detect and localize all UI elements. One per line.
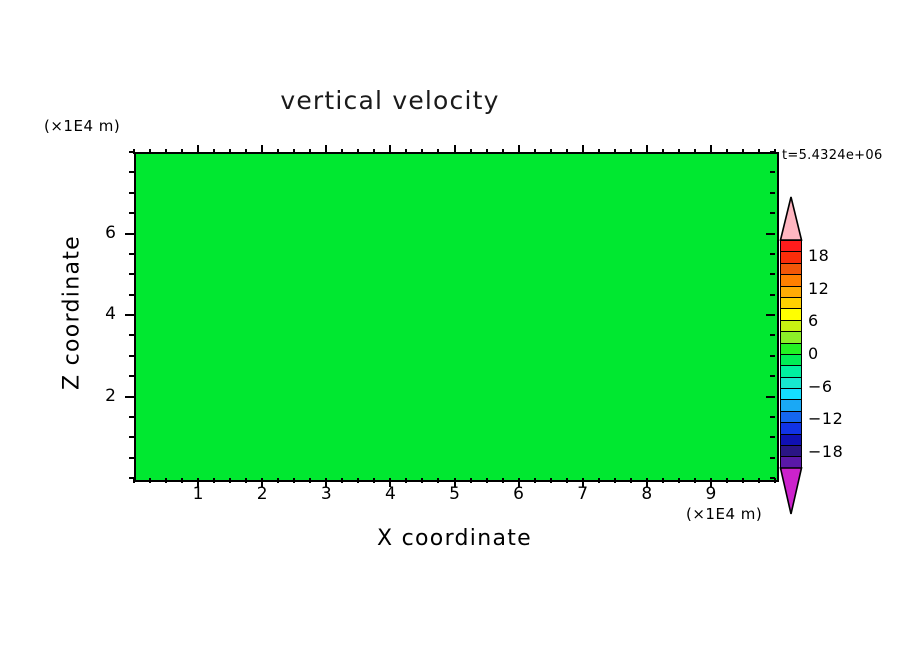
axis-tick bbox=[325, 145, 327, 154]
axis-tick bbox=[770, 273, 775, 275]
axis-tick bbox=[534, 149, 536, 154]
axis-tick bbox=[454, 145, 456, 154]
axis-tick bbox=[710, 145, 712, 154]
axis-tick bbox=[566, 149, 568, 154]
axis-tick bbox=[357, 478, 359, 483]
axis-tick bbox=[470, 149, 472, 154]
axis-tick bbox=[129, 273, 134, 275]
axis-tick bbox=[421, 149, 423, 154]
colorbar-band bbox=[781, 321, 801, 332]
x-tick-label: 8 bbox=[627, 484, 667, 504]
axis-tick bbox=[309, 149, 311, 154]
y-axis-title: Z coordinate bbox=[60, 213, 85, 413]
axis-tick bbox=[770, 457, 775, 459]
axis-tick bbox=[261, 145, 263, 154]
axis-tick bbox=[770, 192, 775, 194]
axis-tick bbox=[486, 149, 488, 154]
axis-tick bbox=[129, 334, 134, 336]
axis-tick bbox=[534, 478, 536, 483]
axis-tick bbox=[277, 149, 279, 154]
axis-tick bbox=[766, 233, 775, 235]
x-tick-label: 5 bbox=[435, 484, 475, 504]
axis-tick bbox=[129, 212, 134, 214]
axis-tick bbox=[630, 149, 632, 154]
axis-tick bbox=[766, 396, 775, 398]
axis-tick bbox=[165, 478, 167, 483]
axis-tick bbox=[437, 478, 439, 483]
axis-tick bbox=[229, 149, 231, 154]
axis-tick bbox=[129, 457, 134, 459]
y-axis-unit-label: (×1E4 m) bbox=[44, 117, 120, 135]
colorbar-tick-label: −12 bbox=[808, 409, 843, 428]
axis-tick bbox=[129, 294, 134, 296]
x-tick-label: 9 bbox=[691, 484, 731, 504]
figure-canvas: vertical velocity (×1E4 m) t=5.4324e+06 … bbox=[0, 0, 904, 654]
axis-tick bbox=[742, 149, 744, 154]
x-tick-label: 2 bbox=[242, 484, 282, 504]
axis-tick bbox=[373, 478, 375, 483]
axis-tick bbox=[129, 416, 134, 418]
axis-tick bbox=[125, 314, 134, 316]
colorbar bbox=[780, 240, 802, 468]
axis-tick bbox=[742, 478, 744, 483]
axis-tick bbox=[277, 478, 279, 483]
axis-tick bbox=[770, 436, 775, 438]
colorbar-tick-label: −6 bbox=[808, 377, 833, 396]
axis-tick bbox=[129, 477, 134, 479]
axis-tick bbox=[662, 478, 664, 483]
colorbar-under-arrow bbox=[779, 467, 803, 515]
axis-tick bbox=[129, 192, 134, 194]
axis-tick bbox=[197, 145, 199, 154]
axis-tick bbox=[129, 253, 134, 255]
axis-tick bbox=[766, 314, 775, 316]
axis-tick bbox=[770, 171, 775, 173]
colorbar-band bbox=[781, 241, 801, 252]
axis-tick bbox=[129, 355, 134, 357]
axis-tick bbox=[678, 149, 680, 154]
axis-tick bbox=[678, 478, 680, 483]
axis-tick bbox=[502, 149, 504, 154]
y-tick-label: 4 bbox=[86, 304, 116, 324]
colorbar-band bbox=[781, 332, 801, 343]
axis-tick bbox=[341, 149, 343, 154]
axis-tick bbox=[129, 436, 134, 438]
axis-tick bbox=[770, 416, 775, 418]
colorbar-tick-label: 12 bbox=[808, 279, 829, 298]
axis-tick bbox=[486, 478, 488, 483]
axis-tick bbox=[630, 478, 632, 483]
colorbar-band bbox=[781, 252, 801, 263]
axis-tick bbox=[758, 478, 760, 483]
axis-tick bbox=[293, 478, 295, 483]
x-tick-label: 6 bbox=[499, 484, 539, 504]
colorbar-band bbox=[781, 355, 801, 366]
colorbar-band bbox=[781, 412, 801, 423]
axis-tick bbox=[129, 171, 134, 173]
axis-tick bbox=[770, 375, 775, 377]
colorbar-tick-label: 0 bbox=[808, 344, 819, 363]
axis-tick bbox=[770, 212, 775, 214]
axis-tick bbox=[125, 233, 134, 235]
axis-tick bbox=[181, 149, 183, 154]
axis-tick bbox=[213, 478, 215, 483]
axis-tick bbox=[770, 334, 775, 336]
axis-tick bbox=[550, 478, 552, 483]
axis-tick bbox=[550, 149, 552, 154]
axis-tick bbox=[758, 149, 760, 154]
axis-tick bbox=[149, 149, 151, 154]
colorbar-band bbox=[781, 400, 801, 411]
axis-tick bbox=[770, 477, 775, 479]
axis-tick bbox=[566, 478, 568, 483]
axis-tick bbox=[389, 145, 391, 154]
axis-tick bbox=[181, 478, 183, 483]
axis-tick bbox=[770, 355, 775, 357]
axis-tick bbox=[470, 478, 472, 483]
axis-tick bbox=[405, 478, 407, 483]
x-axis-title: X coordinate bbox=[134, 526, 775, 551]
axis-tick bbox=[598, 478, 600, 483]
colorbar-band bbox=[781, 446, 801, 457]
axis-tick bbox=[165, 149, 167, 154]
axis-tick bbox=[229, 478, 231, 483]
axis-tick bbox=[373, 149, 375, 154]
axis-tick bbox=[125, 396, 134, 398]
axis-tick bbox=[770, 253, 775, 255]
x-tick-label: 7 bbox=[563, 484, 603, 504]
axis-tick bbox=[341, 478, 343, 483]
axis-tick bbox=[694, 149, 696, 154]
x-tick-label: 4 bbox=[370, 484, 410, 504]
axis-tick bbox=[614, 149, 616, 154]
colorbar-band bbox=[781, 423, 801, 434]
colorbar-band bbox=[781, 264, 801, 275]
colorbar-band bbox=[781, 298, 801, 309]
axis-tick bbox=[245, 478, 247, 483]
x-axis-unit-label: (×1E4 m) bbox=[686, 505, 762, 523]
axis-tick bbox=[598, 149, 600, 154]
axis-tick bbox=[293, 149, 295, 154]
axis-tick bbox=[726, 149, 728, 154]
colorbar-band bbox=[781, 378, 801, 389]
axis-tick bbox=[662, 149, 664, 154]
page-title: vertical velocity bbox=[0, 86, 780, 115]
axis-tick bbox=[694, 478, 696, 483]
axis-tick bbox=[129, 375, 134, 377]
colorbar-band bbox=[781, 366, 801, 377]
velocity-field-heatmap bbox=[136, 154, 777, 480]
axis-tick bbox=[726, 478, 728, 483]
colorbar-tick-label: −18 bbox=[808, 442, 843, 461]
colorbar-band bbox=[781, 287, 801, 298]
colorbar-band bbox=[781, 309, 801, 320]
y-tick-label: 2 bbox=[86, 386, 116, 406]
colorbar-over-arrow bbox=[779, 196, 803, 241]
axis-tick bbox=[770, 151, 775, 153]
colorbar-band bbox=[781, 435, 801, 446]
axis-tick bbox=[149, 478, 151, 483]
axis-tick bbox=[518, 145, 520, 154]
axis-tick bbox=[502, 478, 504, 483]
colorbar-tick-label: 18 bbox=[808, 246, 829, 265]
y-tick-label: 6 bbox=[86, 223, 116, 243]
colorbar-band bbox=[781, 344, 801, 355]
axis-tick bbox=[213, 149, 215, 154]
axis-tick bbox=[357, 149, 359, 154]
axis-tick bbox=[129, 151, 134, 153]
x-tick-label: 1 bbox=[178, 484, 218, 504]
axis-tick bbox=[646, 145, 648, 154]
axis-tick bbox=[309, 478, 311, 483]
axis-tick bbox=[245, 149, 247, 154]
axis-tick bbox=[582, 145, 584, 154]
time-annotation: t=5.4324e+06 bbox=[782, 148, 883, 163]
axis-tick bbox=[614, 478, 616, 483]
contour-plot-area bbox=[134, 152, 779, 482]
x-tick-label: 3 bbox=[306, 484, 346, 504]
colorbar-band bbox=[781, 275, 801, 286]
colorbar-tick-label: 6 bbox=[808, 311, 819, 330]
axis-tick bbox=[405, 149, 407, 154]
axis-tick bbox=[770, 294, 775, 296]
axis-tick bbox=[421, 478, 423, 483]
colorbar-band bbox=[781, 389, 801, 400]
axis-tick bbox=[437, 149, 439, 154]
